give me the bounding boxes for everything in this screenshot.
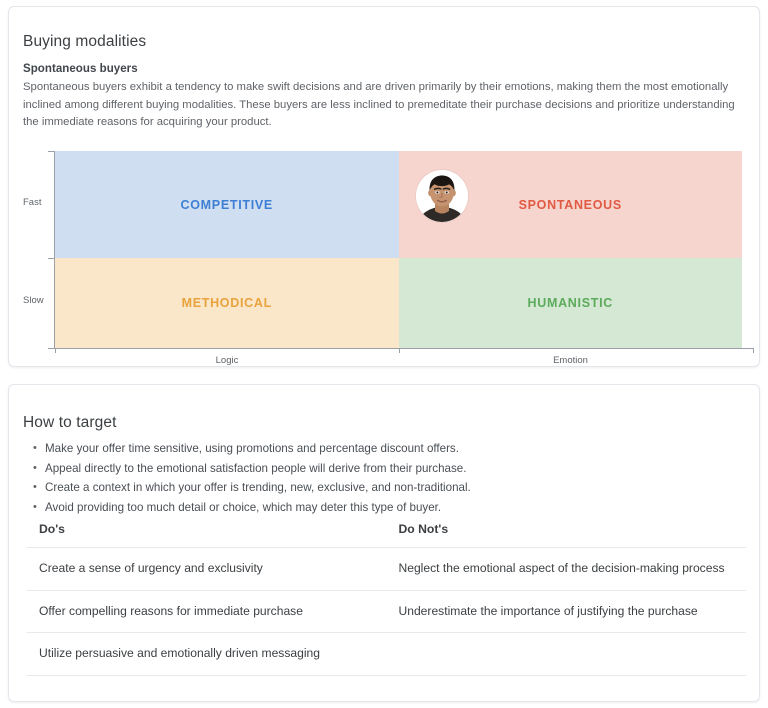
table-cell-do-not	[387, 633, 747, 675]
quadrant-humanistic[interactable]: HUMANISTIC	[399, 258, 743, 348]
dos-and-donts-table: Do's Do Not's Create a sense of urgency …	[27, 520, 746, 676]
buying-modalities-card: Buying modalities Spontaneous buyers Spo…	[8, 6, 760, 367]
x-axis-tick-mid	[399, 348, 400, 353]
intro-block: Spontaneous buyers Spontaneous buyers ex…	[23, 63, 746, 132]
buying-modalities-quadrant-chart: Fast Slow Logic Emotion COMPETITIVE	[23, 145, 746, 357]
table-header-row: Do's Do Not's	[27, 520, 746, 548]
y-axis-tick-label-fast: Fast	[23, 197, 41, 208]
quadrant-spontaneous[interactable]: SPONTANEOUS	[399, 151, 743, 258]
x-axis-tick-label-emotion: Emotion	[399, 355, 742, 366]
page-root: Buying modalities Spontaneous buyers Spo…	[0, 0, 768, 708]
table-row: Offer compelling reasons for immediate p…	[27, 591, 746, 634]
table-cell-do-not: Underestimate the importance of justifyi…	[387, 591, 747, 633]
table-header-dos: Do's	[27, 520, 387, 547]
y-axis-tick-top	[48, 151, 54, 152]
table-cell-do-not: Neglect the emotional aspect of the deci…	[387, 548, 747, 590]
list-item: Create a context in which your offer is …	[45, 480, 727, 500]
user-photo-avatar	[416, 170, 468, 222]
list-item: Make your offer time sensitive, using pr…	[45, 441, 727, 461]
list-item: Appeal directly to the emotional satisfa…	[45, 461, 727, 481]
table-header-donts: Do Not's	[387, 520, 747, 547]
intro-heading: Spontaneous buyers	[23, 63, 746, 75]
table-body: Create a sense of urgency and exclusivit…	[27, 548, 746, 676]
quadrant-label-humanistic: HUMANISTIC	[528, 296, 613, 310]
table-row: Utilize persuasive and emotionally drive…	[27, 633, 746, 676]
page-title: Buying modalities	[23, 33, 146, 51]
y-axis-tick-bottom	[48, 348, 54, 349]
table-cell-do: Utilize persuasive and emotionally drive…	[27, 633, 387, 675]
intro-body: Spontaneous buyers exhibit a tendency to…	[23, 79, 746, 132]
how-to-target-card: How to target Make your offer time sensi…	[8, 384, 760, 702]
quadrant-label-spontaneous: SPONTANEOUS	[519, 198, 622, 212]
quadrant-label-competitive: COMPETITIVE	[181, 198, 273, 212]
quadrant-label-methodical: METHODICAL	[182, 296, 272, 310]
x-axis-line	[54, 348, 754, 349]
y-axis-tick-label-slow: Slow	[23, 295, 44, 306]
x-axis-tick-left	[55, 348, 56, 353]
x-axis-tick-right	[753, 348, 754, 353]
targeting-tips-list: Make your offer time sensitive, using pr…	[27, 441, 727, 519]
how-to-target-title: How to target	[23, 414, 116, 432]
table-cell-do: Create a sense of urgency and exclusivit…	[27, 548, 387, 590]
quadrant-competitive[interactable]: COMPETITIVE	[55, 151, 399, 258]
y-axis-tick-mid	[48, 258, 54, 259]
list-item: Avoid providing too much detail or choic…	[45, 500, 727, 520]
table-cell-do: Offer compelling reasons for immediate p…	[27, 591, 387, 633]
x-axis-tick-label-logic: Logic	[55, 355, 399, 366]
table-row: Create a sense of urgency and exclusivit…	[27, 548, 746, 591]
quadrant-methodical[interactable]: METHODICAL	[55, 258, 399, 348]
quadrant-grid: COMPETITIVE	[55, 151, 742, 348]
